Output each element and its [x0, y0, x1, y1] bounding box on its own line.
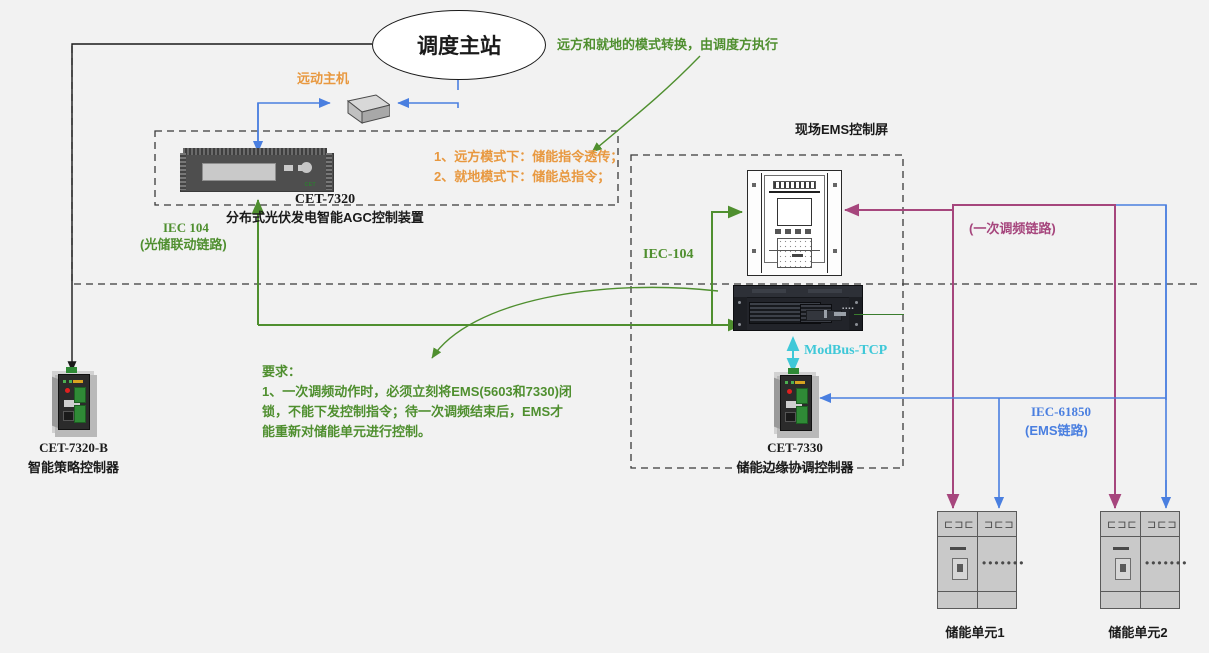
cet7320b-top-terminal [66, 367, 77, 373]
cet7320-rotary-knob[interactable] [301, 162, 312, 173]
cet7330-case [780, 375, 812, 431]
ems-server-led-1 [824, 310, 827, 318]
storage2-divider [1140, 512, 1141, 608]
ems-panel-divider [769, 191, 820, 193]
mode-switch-note: 远方和就地的模式转换，由调度方执行 [557, 36, 778, 53]
storage2-dots: ••••••• [1145, 556, 1188, 570]
cet7320-led-1 [284, 165, 293, 171]
link-label-primary-freq: (一次调频链路) [969, 220, 1056, 237]
rtu-label: 远动主机 [297, 70, 349, 87]
ems-server-screw-3 [855, 301, 858, 304]
ems-panel-screw-bl [752, 249, 756, 253]
ems-panel-title-strip [773, 181, 816, 189]
cet7330-top-terminal [788, 368, 799, 374]
link-label-iec61850-line2: (EMS链路) [1025, 422, 1088, 439]
cet7330-model-caption: CET-7330 [715, 440, 875, 456]
ems-server-screw-2 [738, 323, 741, 326]
wire-iec61850-top [1116, 205, 1166, 400]
cet7330-desc-caption: 储能边缘协调控制器 [705, 457, 885, 476]
ems-server-ear-left [734, 297, 747, 330]
storage-cabinet-2[interactable]: ⊏⊐⊏ ⊐⊏⊐ ••••••• [1100, 511, 1180, 609]
cet7330-power-led [787, 389, 792, 394]
storage1-breaker-bar [950, 547, 966, 550]
orange-note-line-1: 1、远方模式下：储能指令透传； [434, 148, 623, 165]
cet7320b-desc-caption: 智能策略控制器 [6, 457, 141, 476]
ems-server-accent-line [854, 314, 904, 315]
ems-server-top-slot-1 [752, 289, 786, 293]
ems-panel-screw-tr [833, 183, 837, 187]
cet7330-terminal-top [796, 388, 808, 404]
wire-primary-freq-trunk [953, 205, 1115, 500]
storage2-glyph-right: ⊐⊏⊐ [1147, 518, 1178, 531]
device-cet7320b[interactable] [52, 371, 94, 433]
storage2-base-line [1101, 591, 1179, 592]
ems-panel-screw-br [833, 249, 837, 253]
rtu-host-icon[interactable] [334, 93, 390, 127]
storage2-glyph-left: ⊏⊐⊏ [1107, 518, 1138, 531]
storage1-glyph-left: ⊏⊐⊏ [944, 518, 975, 531]
node-dispatch-master-label: 调度主站 [417, 30, 501, 60]
ems-server-screw-4 [855, 323, 858, 326]
requirement-line-1: 1、一次调频动作时，必须立刻将EMS(5603和7330)闭 [262, 383, 572, 400]
storage-cabinet-1-caption: 储能单元1 [925, 622, 1025, 641]
ems-panel-rail-left [761, 173, 762, 273]
diagram-canvas: 调度主站 远动主机 CET CET-7320 分布式光伏发电智能AGC控制装置 … [0, 0, 1209, 653]
cet7330-amber-led [795, 381, 805, 384]
ems-panel-title: 现场EMS控制屏 [795, 121, 888, 138]
device-cet7320[interactable]: CET [180, 148, 332, 192]
requirement-title: 要求： [262, 363, 301, 380]
cet7320b-model-caption: CET-7320-B [6, 440, 141, 456]
device-ems-server[interactable]: ▪▪▪▪ [733, 285, 863, 331]
ems-panel-screw-tl [752, 183, 756, 187]
storage1-glyph-right: ⊐⊏⊐ [984, 518, 1015, 531]
cet7320b-power-led [65, 388, 70, 393]
cet7320-rack-ear-right [326, 153, 332, 190]
cet7330-ethernet-port-1 [785, 412, 796, 422]
cet7320-brand-mark: CET [305, 182, 317, 188]
storage1-dots: ••••••• [982, 556, 1025, 570]
storage2-meter [1115, 558, 1131, 580]
wire-master-to-rtu [398, 103, 458, 108]
storage2-breaker-bar [1113, 547, 1129, 550]
link-label-modbus-tcp: ModBus-TCP [804, 342, 887, 360]
cet7320-vent [183, 148, 327, 155]
cet7320-rack-ear-left [180, 153, 186, 190]
storage1-base-line [938, 591, 1016, 592]
device-cet7330[interactable] [774, 372, 816, 434]
cet7320-model-caption: CET-7320 [255, 192, 395, 208]
cet7330-terminal-bottom [796, 406, 808, 424]
cet7320b-ethernet-port-1 [63, 411, 74, 421]
storage2-header-line [1101, 536, 1179, 537]
leader-requirement [432, 287, 718, 358]
link-label-iec104-left-line1: IEC 104 [163, 219, 209, 236]
ems-panel-rail-right [827, 173, 828, 273]
ems-panel-screen [777, 198, 812, 226]
cet7320b-terminal-top [74, 387, 86, 403]
ems-server-top-slot-2 [808, 289, 842, 293]
cet7320b-terminal-bottom [74, 405, 86, 423]
storage-cabinet-2-caption: 储能单元2 [1088, 622, 1188, 641]
cet7320b-amber-led [73, 380, 83, 383]
node-dispatch-master[interactable]: 调度主站 [372, 10, 546, 80]
storage1-meter [952, 558, 968, 580]
orange-note-line-2: 2、就地模式下：储能总指令； [434, 168, 610, 185]
cet7320-desc-caption: 分布式光伏发电智能AGC控制装置 [175, 207, 475, 226]
ems-panel-footer [769, 250, 820, 260]
device-ems-control-panel[interactable] [747, 170, 842, 276]
link-label-iec61850-line1: IEC-61850 [1031, 403, 1091, 420]
requirement-line-3: 能重新对储能单元进行控制。 [262, 423, 431, 440]
link-label-iec104-mid: IEC-104 [643, 246, 694, 264]
ems-panel-button-row[interactable] [775, 229, 814, 234]
ems-server-screw-1 [738, 301, 741, 304]
ems-server-led-2 [834, 312, 846, 316]
storage-cabinet-1[interactable]: ⊏⊐⊏ ⊐⊏⊐ ••••••• [937, 511, 1017, 609]
link-label-iec104-left-line2: (光储联动链路) [140, 236, 227, 253]
storage1-header-line [938, 536, 1016, 537]
requirement-line-2: 锁，不能下发控制指令；待一次调频结束后，EMS才 [262, 403, 563, 420]
storage1-divider [977, 512, 978, 608]
cet7320b-case [58, 374, 90, 430]
connector-layer [0, 0, 1209, 653]
cet7320-lcd-display [202, 163, 276, 181]
ems-panel-faceplate [764, 175, 825, 263]
leader-mode-switch [592, 56, 700, 152]
